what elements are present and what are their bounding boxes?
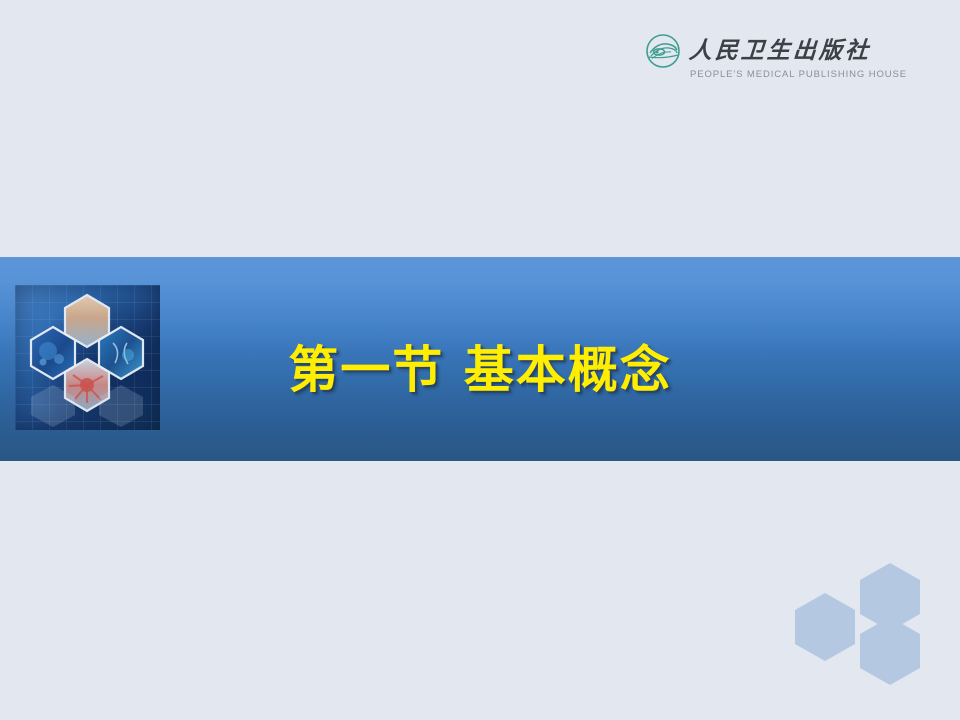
publisher-english-name: PEOPLE'S MEDICAL PUBLISHING HOUSE bbox=[690, 69, 907, 80]
logo-row: 人民卫生出版社 bbox=[645, 34, 871, 68]
slide-title: 第一节 基本概念 bbox=[0, 330, 960, 402]
hexagon-cluster-decoration bbox=[795, 555, 935, 690]
hexagon-bottom bbox=[860, 617, 920, 685]
presentation-slide: 人民卫生出版社 PEOPLE'S MEDICAL PUBLISHING HOUS… bbox=[0, 0, 960, 720]
pmph-emblem-icon bbox=[645, 33, 681, 69]
hexagon-left bbox=[795, 593, 855, 661]
publisher-logo: 人民卫生出版社 PEOPLE'S MEDICAL PUBLISHING HOUS… bbox=[645, 34, 895, 84]
publisher-chinese-name: 人民卫生出版社 bbox=[688, 36, 872, 66]
